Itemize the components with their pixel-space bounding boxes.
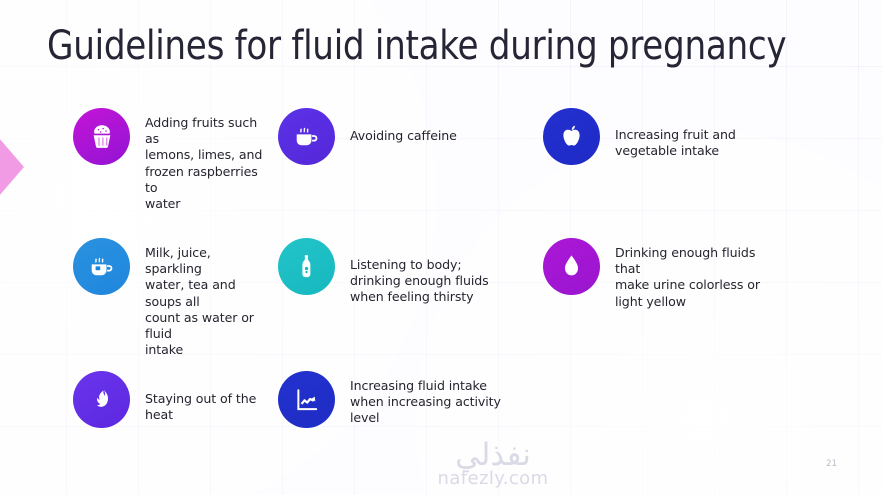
guidelines-row-2: Milk, juice, sparkling water, tea and so…: [0, 238, 882, 371]
chart-up-icon: [293, 386, 321, 414]
guidelines-grid: Adding fruits such as lemons, limes, and…: [0, 108, 882, 481]
coffee-cup-icon: [292, 122, 321, 151]
guideline-text: Milk, juice, sparkling water, tea and so…: [145, 245, 265, 358]
water-drop-icon: [557, 252, 586, 281]
slide-canvas: Guidelines for fluid intake during pregn…: [0, 0, 882, 495]
guideline-text: Increasing fluid intake when increasing …: [350, 378, 501, 427]
guideline-item-avoiding-caffeine[interactable]: Avoiding caffeine: [265, 108, 530, 165]
guideline-item-milk-juice-counts[interactable]: Milk, juice, sparkling water, tea and so…: [0, 238, 265, 358]
guideline-item-increasing-fluid-activity[interactable]: Increasing fluid intake when increasing …: [265, 371, 530, 428]
guideline-text: Increasing fruit and vegetable intake: [615, 127, 736, 159]
guideline-text: Listening to body; drinking enough fluid…: [350, 257, 489, 306]
apple-icon: [557, 122, 586, 151]
guidelines-row-3: Staying out of the heat Increasing fluid…: [0, 371, 882, 481]
guideline-text: Avoiding caffeine: [350, 128, 457, 144]
cupcake-icon-badge[interactable]: [73, 108, 130, 165]
chart-up-icon-badge[interactable]: [278, 371, 335, 428]
cupcake-icon: [87, 122, 117, 152]
flame-icon: [87, 385, 116, 414]
page-number: 21: [826, 459, 837, 469]
guidelines-row-1: Adding fruits such as lemons, limes, and…: [0, 108, 882, 238]
apple-icon-badge[interactable]: [543, 108, 600, 165]
guideline-item-urine-colorless[interactable]: Drinking enough fluids that make urine c…: [530, 238, 882, 310]
bottle-icon: [292, 252, 321, 281]
flame-icon-badge[interactable]: [73, 371, 130, 428]
coffee-cup-icon-badge[interactable]: [278, 108, 335, 165]
bottle-icon-badge[interactable]: [278, 238, 335, 295]
guideline-item-staying-out-of-heat[interactable]: Staying out of the heat: [0, 371, 265, 428]
guideline-item-listening-to-body[interactable]: Listening to body; drinking enough fluid…: [265, 238, 530, 306]
page-title: Guidelines for fluid intake during pregn…: [47, 24, 786, 68]
guideline-text: Drinking enough fluids that make urine c…: [615, 245, 760, 310]
tea-cup-icon-badge[interactable]: [73, 238, 130, 295]
guideline-item-adding-fruits[interactable]: Adding fruits such as lemons, limes, and…: [0, 108, 265, 212]
water-drop-icon-badge[interactable]: [543, 238, 600, 295]
tea-cup-icon: [87, 252, 116, 281]
guideline-text: Adding fruits such as lemons, limes, and…: [145, 115, 265, 212]
guideline-item-increasing-fruit-vegetable[interactable]: Increasing fruit and vegetable intake: [530, 108, 882, 165]
guideline-text: Staying out of the heat: [145, 391, 265, 423]
